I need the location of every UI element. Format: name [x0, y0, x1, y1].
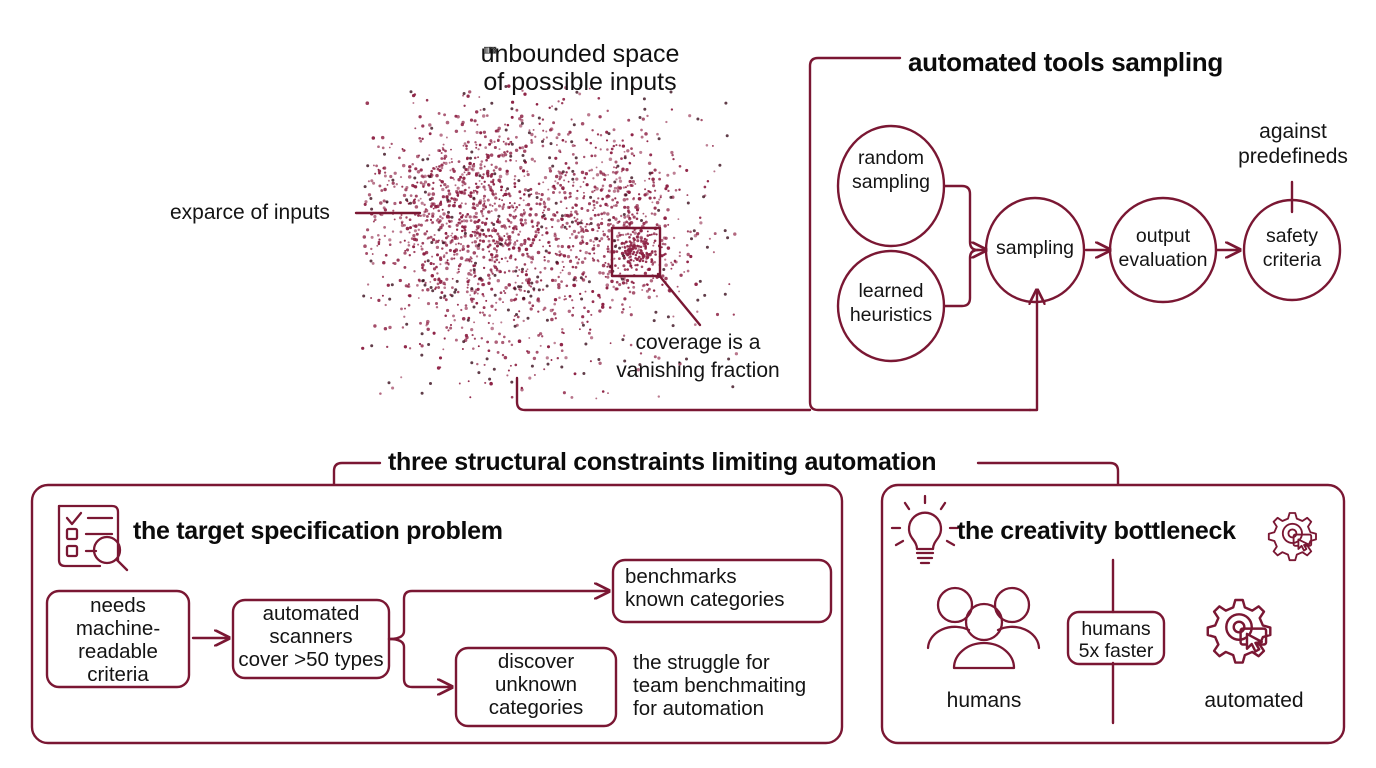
box-discover-unknown-line1[interactable]: discover: [456, 651, 616, 673]
node-random-sampling-line1[interactable]: random: [831, 148, 951, 169]
scatter-title-line2: of possible inputs: [420, 69, 740, 96]
box-discover-unknown-line2[interactable]: unknown: [456, 674, 616, 696]
gear-cursor-icon-corner: [1269, 513, 1316, 560]
note-struggle-line2: team benchmaiting: [633, 675, 806, 697]
note-struggle-line3: for automation: [633, 698, 764, 720]
box-automated-scanners-line3[interactable]: cover >50 types: [229, 649, 393, 671]
box-benchmarks-line2[interactable]: known categories: [625, 589, 785, 611]
note-against: against: [1226, 121, 1360, 144]
people-group-icon: [928, 588, 1039, 668]
node-learned-heuristics-line2[interactable]: heuristics: [829, 305, 953, 326]
panel-target-specification-title: the target specification problem: [133, 518, 503, 545]
box-needs-criteria-line1[interactable]: needs: [47, 595, 189, 617]
badge-humans-5x-line2[interactable]: 5x faster: [1068, 641, 1164, 662]
panel-creativity-bottleneck-title: the creativity bottleneck: [957, 518, 1236, 545]
node-random-sampling-line2[interactable]: sampling: [831, 172, 951, 193]
box-discover-unknown-line3[interactable]: categories: [456, 697, 616, 719]
note-struggle-line1: the struggle for: [633, 652, 770, 674]
box-automated-scanners-line2[interactable]: scanners: [229, 626, 393, 648]
callout-coverage-line2: vanishing fraction: [596, 360, 800, 383]
constraints-section-title: three structural constraints limiting au…: [388, 449, 936, 476]
box-needs-criteria-line4[interactable]: criteria: [47, 664, 189, 686]
diagram-canvas: ▥▩ unbounded space of possible inputs ex…: [0, 0, 1376, 768]
box-automated-scanners-line1[interactable]: automated: [229, 603, 393, 625]
label-exparce-of-inputs: exparce of inputs: [170, 202, 330, 225]
box-benchmarks-line1[interactable]: benchmarks: [625, 566, 737, 588]
checklist-search-icon: [59, 506, 127, 570]
node-output-evaluation-line1[interactable]: output: [1103, 226, 1223, 247]
sampling-section-title: automated tools sampling: [908, 48, 1223, 76]
node-output-evaluation-line2[interactable]: evaluation: [1103, 250, 1223, 271]
lightbulb-icon: [892, 496, 958, 563]
label-humans: humans: [920, 690, 1048, 713]
box-needs-criteria-line3[interactable]: readable: [47, 641, 189, 663]
badge-humans-5x-line1[interactable]: humans: [1068, 619, 1164, 640]
node-sampling-label[interactable]: sampling: [975, 238, 1095, 259]
node-learned-heuristics-line1[interactable]: learned: [829, 281, 953, 302]
node-safety-criteria-line2[interactable]: criteria: [1232, 250, 1352, 271]
scatter-title-line1: unbounded space: [420, 41, 740, 68]
note-predefineds: predefineds: [1222, 146, 1364, 169]
gear-cursor-icon-large: [1208, 600, 1271, 663]
box-needs-criteria-line2[interactable]: machine-: [47, 618, 189, 640]
label-automated: automated: [1186, 690, 1322, 713]
callout-coverage-line1: coverage is a: [600, 332, 796, 355]
node-safety-criteria-line1[interactable]: safety: [1232, 226, 1352, 247]
